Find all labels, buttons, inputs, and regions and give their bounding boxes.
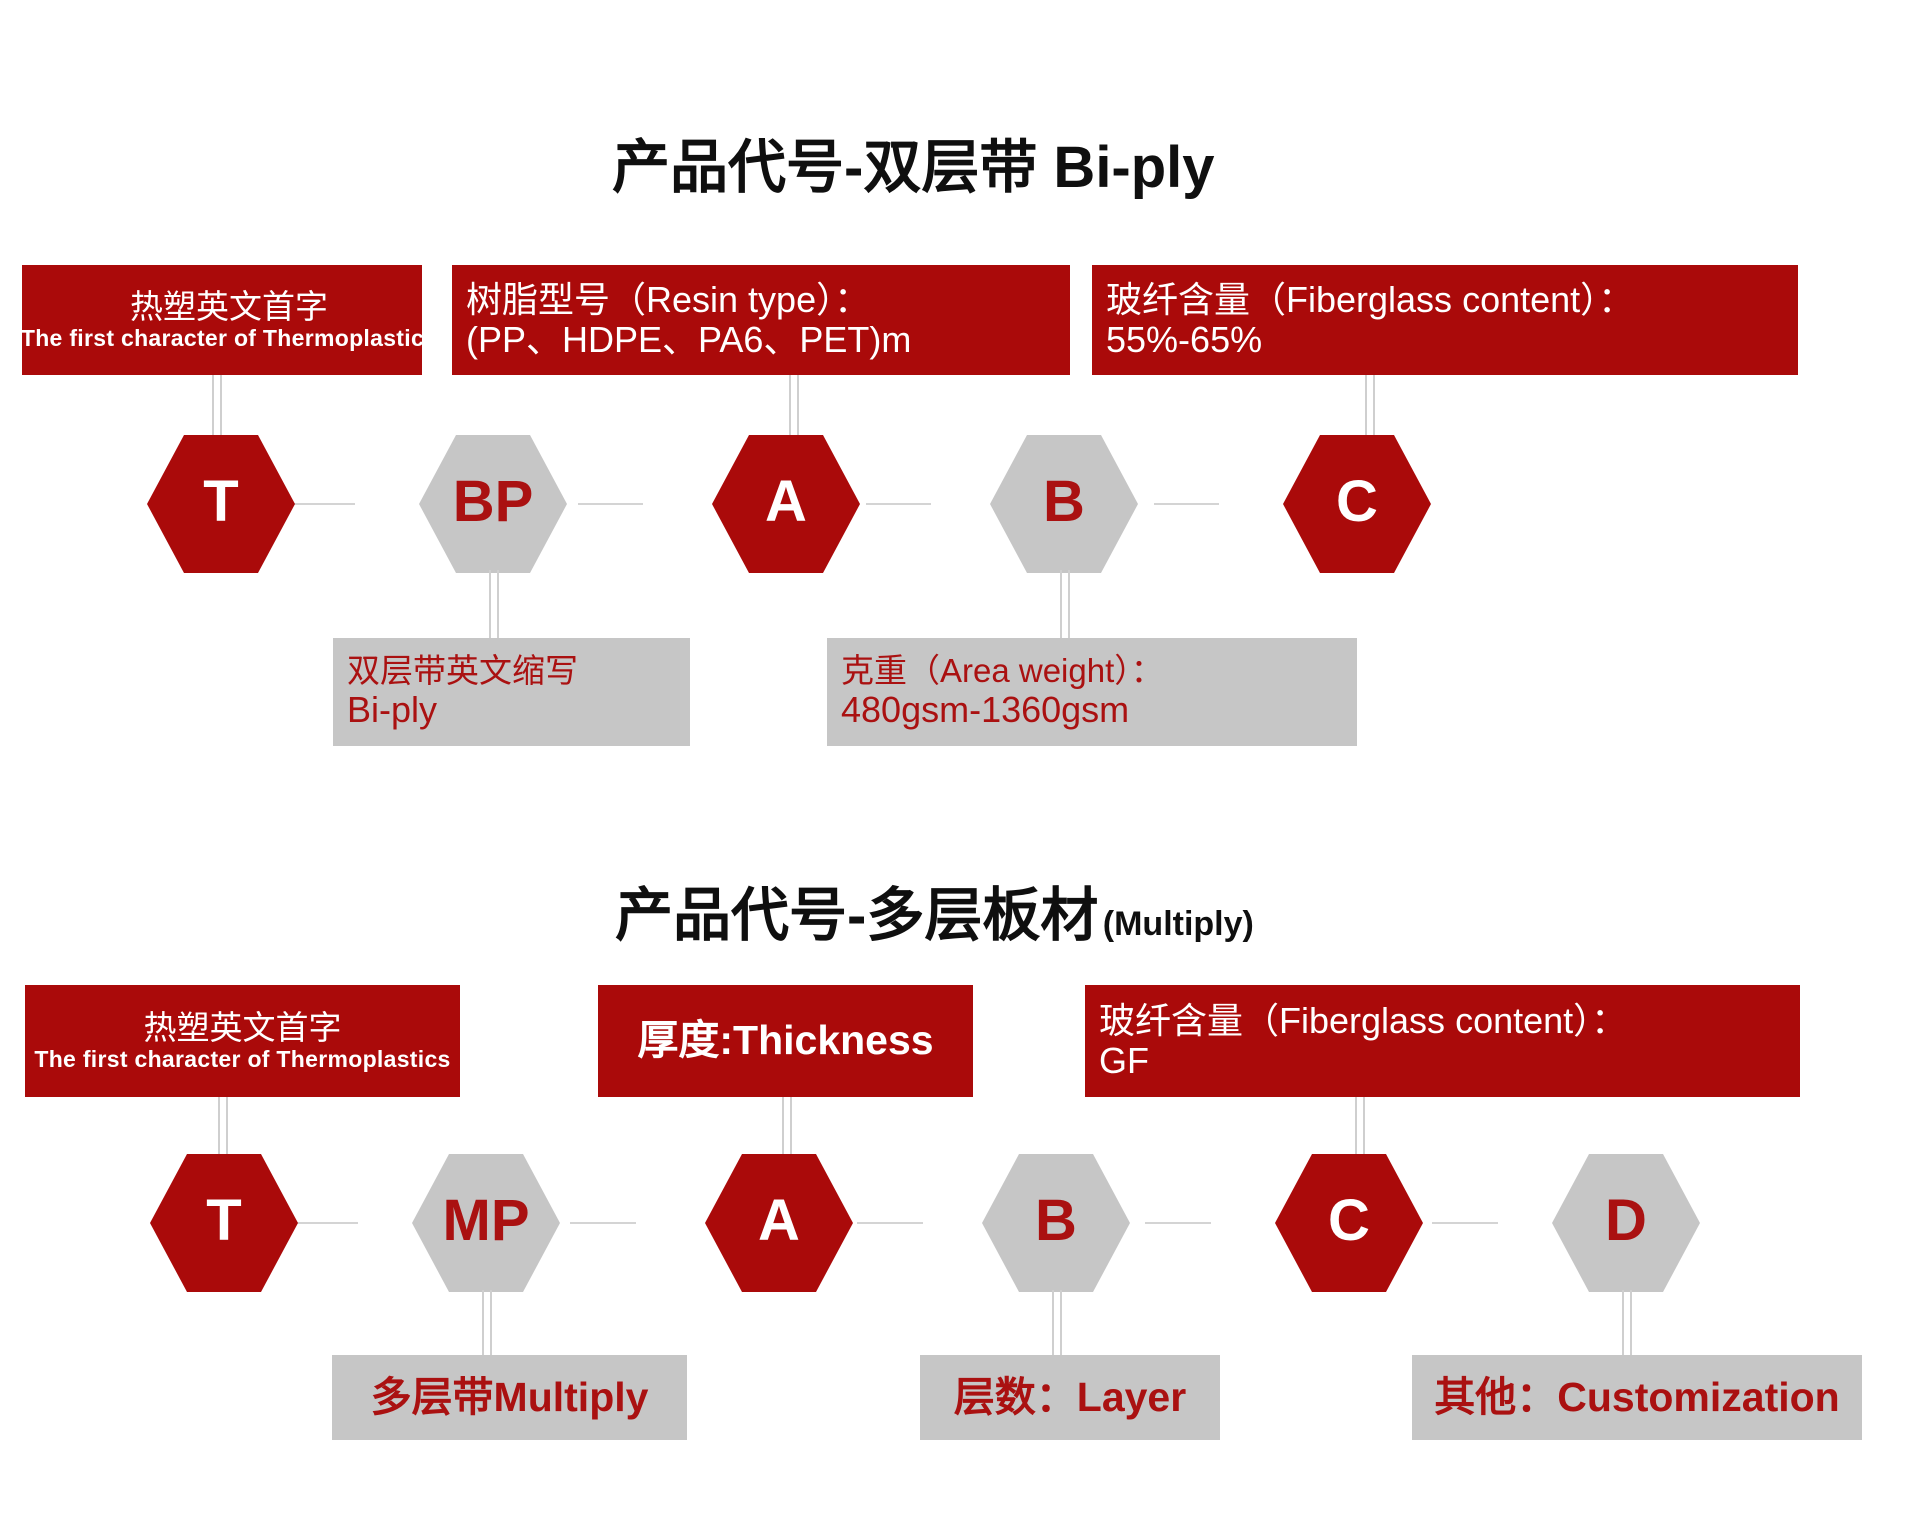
hexagon-b-multiply[interactable]: B — [982, 1154, 1130, 1292]
label-thermoplastics-first-char-1: 热塑英文首字 The first character of Thermoplas… — [22, 265, 422, 375]
section-title-bi-ply: 产品代号-双层带 Bi-ply — [612, 120, 1215, 204]
label-line-2: (PP、HDPE、PA6、PET)m — [466, 320, 1070, 360]
label-line-2: Bi-ply — [347, 690, 690, 730]
section-title-main: 产品代号-多层板材 — [615, 883, 1098, 948]
hexagon-label: MP — [443, 1192, 530, 1250]
hexagon-label: C — [1336, 473, 1378, 531]
hexagon-label: C — [1328, 1192, 1370, 1250]
label-line-1: 双层带英文缩写 — [347, 653, 690, 690]
connector-vertical — [1622, 1290, 1632, 1355]
connector-vertical — [482, 1290, 492, 1355]
hexagon-a-multiply[interactable]: A — [705, 1154, 853, 1292]
connector-horizontal — [857, 1222, 923, 1224]
connector-horizontal — [290, 503, 355, 505]
hexagon-a-bi-ply[interactable]: A — [712, 435, 860, 573]
connector-horizontal — [866, 503, 931, 505]
hexagon-c-bi-ply[interactable]: C — [1283, 435, 1431, 573]
label-line-2: The first character of Thermoplastics — [21, 326, 437, 352]
label-line-1: 热塑英文首字 — [130, 289, 328, 326]
label-bi-ply-abbreviation: 双层带英文缩写 Bi-ply — [333, 638, 690, 746]
hexagon-label: B — [1043, 473, 1085, 531]
label-resin-type: 树脂型号（Resin type）： (PP、HDPE、PA6、PET)m — [452, 265, 1070, 375]
label-line-1: 玻纤含量（Fiberglass content）： — [1099, 1001, 1800, 1041]
connector-horizontal — [1145, 1222, 1211, 1224]
connector-vertical — [212, 375, 222, 441]
label-line-1: 层数：Layer — [954, 1375, 1186, 1421]
connector-vertical — [489, 570, 499, 638]
connector-vertical — [789, 375, 799, 441]
label-line-1: 热塑英文首字 — [144, 1010, 342, 1047]
connector-vertical — [1365, 375, 1375, 441]
hexagon-t-bi-ply[interactable]: T — [147, 435, 295, 573]
diagram-canvas: 产品代号-双层带 Bi-ply 热塑英文首字 The first charact… — [0, 0, 1920, 1535]
label-line-2: 55%-65% — [1106, 320, 1798, 360]
label-line-1: 克重（Area weight）： — [841, 653, 1357, 690]
hexagon-label: T — [203, 473, 238, 531]
label-customization: 其他：Customization — [1412, 1355, 1862, 1440]
section-title-multiply: 产品代号-多层板材 (Multiply) — [615, 868, 1254, 952]
label-line-2: 480gsm-1360gsm — [841, 690, 1357, 730]
label-line-1: 其他：Customization — [1434, 1375, 1839, 1421]
label-line-2: The first character of Thermoplastics — [34, 1047, 450, 1073]
connector-horizontal — [570, 1222, 636, 1224]
connector-horizontal — [1154, 503, 1219, 505]
label-line-1: 树脂型号（Resin type）： — [466, 280, 1070, 320]
label-layer-count: 层数：Layer — [920, 1355, 1220, 1440]
connector-vertical — [218, 1097, 228, 1160]
hexagon-d-multiply[interactable]: D — [1552, 1154, 1700, 1292]
label-thickness: 厚度:Thickness — [598, 985, 973, 1097]
connector-horizontal — [1432, 1222, 1498, 1224]
label-fiberglass-content-2: 玻纤含量（Fiberglass content）： GF — [1085, 985, 1800, 1097]
label-multiply-abbreviation: 多层带Multiply — [332, 1355, 687, 1440]
hexagon-label: A — [758, 1192, 800, 1250]
label-line-1: 多层带Multiply — [371, 1375, 649, 1421]
label-area-weight: 克重（Area weight）： 480gsm-1360gsm — [827, 638, 1357, 746]
label-line-1: 玻纤含量（Fiberglass content）： — [1106, 280, 1798, 320]
label-line-1: 厚度:Thickness — [637, 1018, 933, 1064]
hexagon-bp-bi-ply[interactable]: BP — [419, 435, 567, 573]
hexagon-label: BP — [453, 473, 534, 531]
hexagon-mp-multiply[interactable]: MP — [412, 1154, 560, 1292]
label-fiberglass-content-1: 玻纤含量（Fiberglass content）： 55%-65% — [1092, 265, 1798, 375]
label-line-2: GF — [1099, 1041, 1800, 1081]
hexagon-c-multiply[interactable]: C — [1275, 1154, 1423, 1292]
hexagon-b-bi-ply[interactable]: B — [990, 435, 1138, 573]
hexagon-label: T — [206, 1192, 241, 1250]
connector-vertical — [782, 1097, 792, 1160]
connector-vertical — [1355, 1097, 1365, 1160]
hexagon-label: D — [1605, 1192, 1647, 1250]
section-title-sub: (Multiply) — [1103, 905, 1254, 943]
connector-horizontal — [578, 503, 643, 505]
connector-horizontal — [292, 1222, 358, 1224]
connector-vertical — [1052, 1290, 1062, 1355]
section-title-main: 产品代号-双层带 Bi-ply — [612, 135, 1215, 200]
connector-vertical — [1060, 570, 1070, 638]
hexagon-label: B — [1035, 1192, 1077, 1250]
hexagon-label: A — [765, 473, 807, 531]
hexagon-t-multiply[interactable]: T — [150, 1154, 298, 1292]
label-thermoplastics-first-char-2: 热塑英文首字 The first character of Thermoplas… — [25, 985, 460, 1097]
